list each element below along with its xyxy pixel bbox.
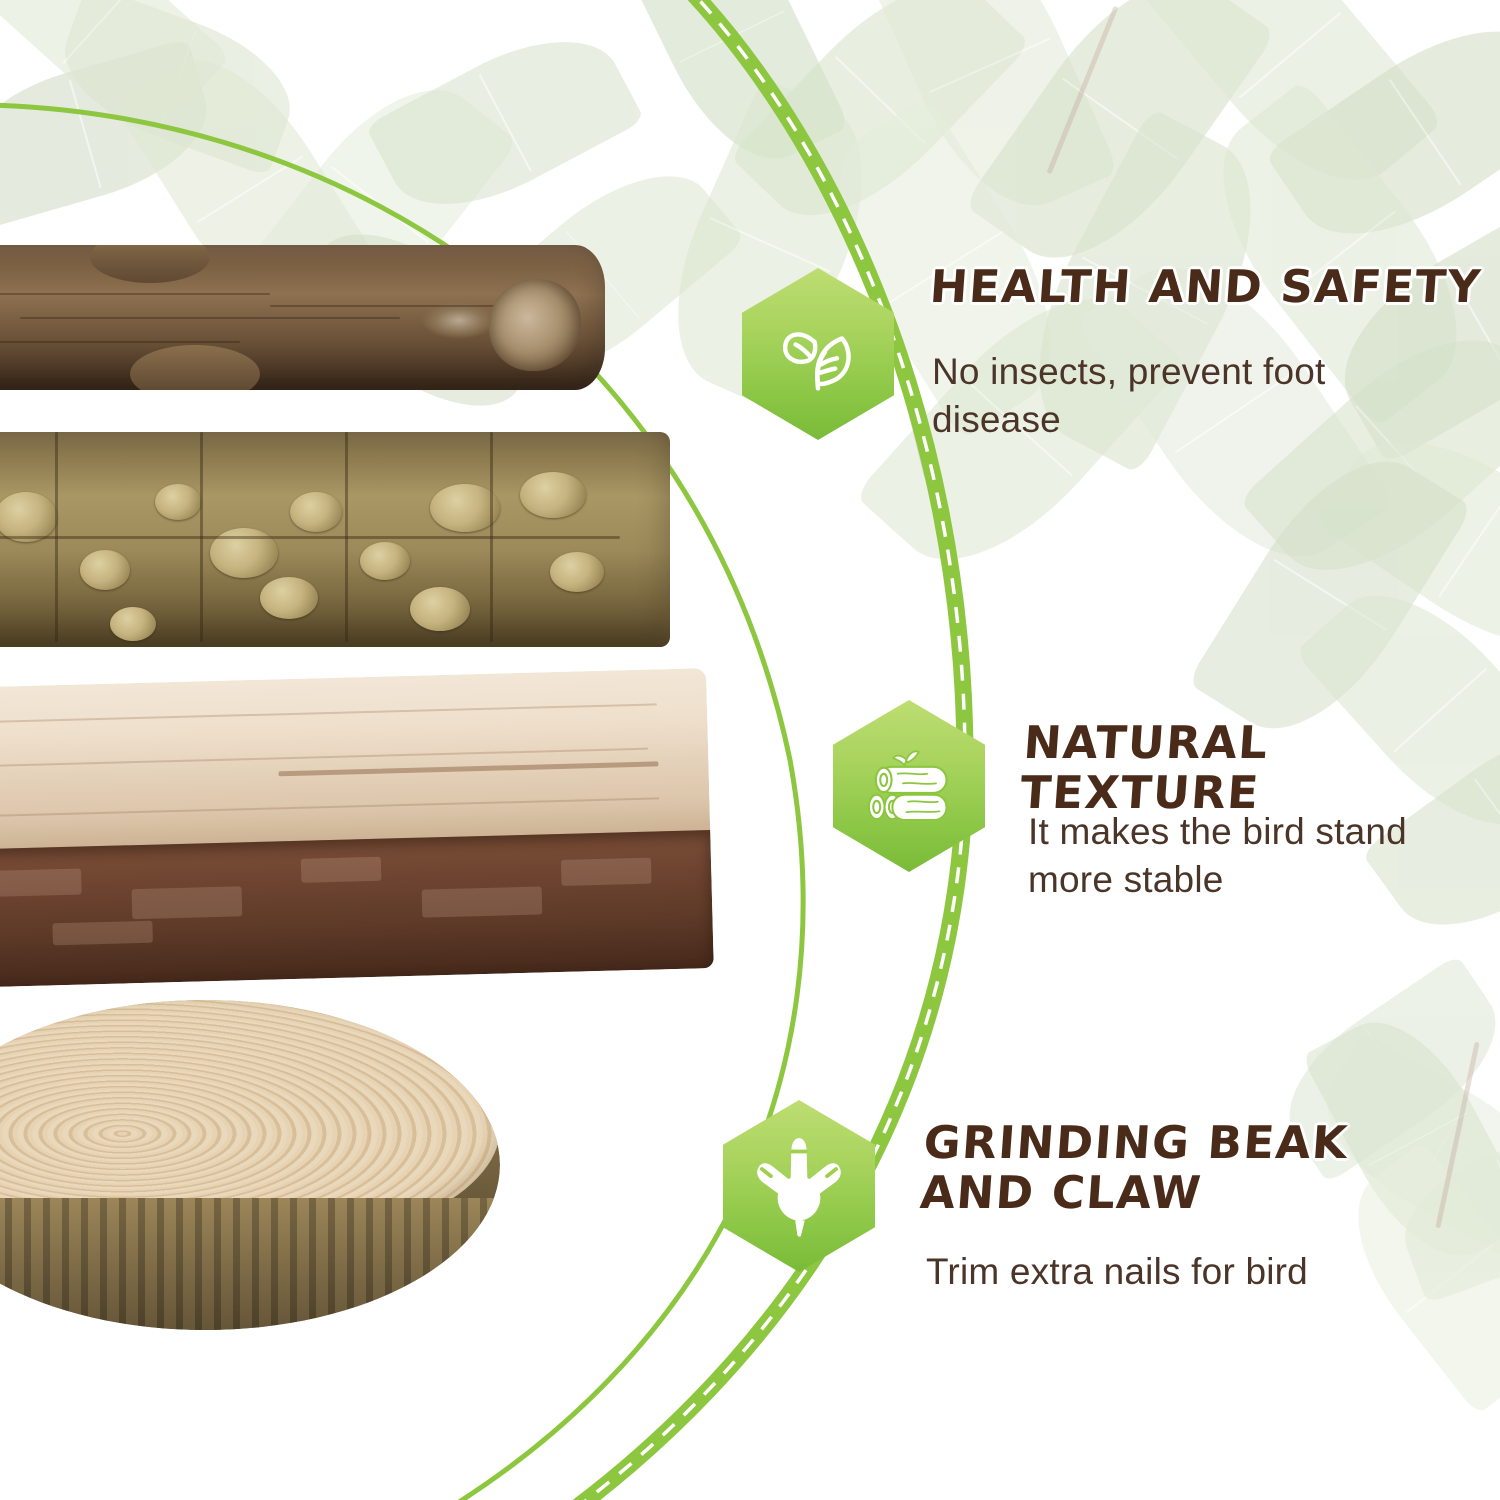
bird-claw-icon xyxy=(723,1100,875,1272)
feature-icon-hex-claw xyxy=(723,1100,875,1272)
infographic-page: HEALTH AND SAFETY No insects, prevent fo… xyxy=(0,0,1500,1500)
feature-block-grinding-beak-and-claw: GRINDING BEAK AND CLAW Trim extra nails … xyxy=(0,0,1500,1500)
feature-title-grinding-beak-and-claw: GRINDING BEAK AND CLAW xyxy=(918,1118,1350,1219)
feature-description-grinding-beak-and-claw: Trim extra nails for bird xyxy=(926,1248,1386,1296)
